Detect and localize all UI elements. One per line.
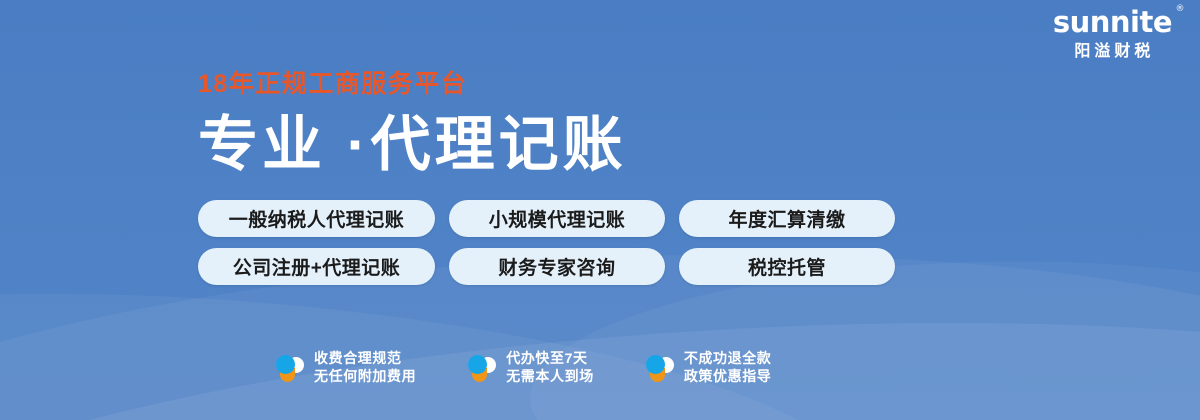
headline-block: 18年正规工商服务平台 专业 ·代理记账 <box>198 72 627 176</box>
brand-wordmark-text: sunnite <box>1053 5 1172 39</box>
brand-logo[interactable]: sunnite ® 阳溢财税 <box>1053 8 1172 60</box>
feature-line-2: 无任何附加费用 <box>314 368 416 386</box>
feature-text: 收费合理规范 无任何附加费用 <box>314 350 416 386</box>
circle-badge-blue-part <box>468 355 487 374</box>
service-pill-grid: 一般纳税人代理记账 小规模代理记账 年度汇算清缴 公司注册+代理记账 财务专家咨… <box>198 200 895 285</box>
headline-eyebrow: 18年正规工商服务平台 <box>198 72 627 97</box>
circle-badge-blue-part <box>646 355 665 374</box>
circle-badge-icon <box>646 353 674 383</box>
promo-banner: sunnite ® 阳溢财税 18年正规工商服务平台 专业 ·代理记账 一般纳税… <box>0 0 1200 420</box>
feature-text: 代办快至7天 无需本人到场 <box>506 350 594 386</box>
brand-name-cn: 阳溢财税 <box>1053 44 1172 60</box>
service-pill-company-registration-bookkeeping[interactable]: 公司注册+代理记账 <box>198 248 435 285</box>
feature-line-1: 不成功退全款 <box>684 350 772 368</box>
circle-badge-icon <box>276 353 304 383</box>
feature-item-speed: 代办快至7天 无需本人到场 <box>468 350 594 386</box>
service-pill-general-taxpayer-bookkeeping[interactable]: 一般纳税人代理记账 <box>198 200 435 237</box>
feature-item-pricing: 收费合理规范 无任何附加费用 <box>276 350 416 386</box>
service-pill-finance-expert-consulting[interactable]: 财务专家咨询 <box>449 248 665 285</box>
background-wave-2 <box>0 277 1200 420</box>
service-pill-small-scale-bookkeeping[interactable]: 小规模代理记账 <box>449 200 665 237</box>
circle-badge-blue-part <box>276 355 295 374</box>
feature-text: 不成功退全款 政策优惠指导 <box>684 350 772 386</box>
feature-line-1: 收费合理规范 <box>314 350 416 368</box>
feature-line-2: 政策优惠指导 <box>684 368 772 386</box>
feature-line-1: 代办快至7天 <box>506 350 594 368</box>
feature-list: 收费合理规范 无任何附加费用 代办快至7天 无需本人到场 不成功退全款 <box>276 350 771 386</box>
service-pill-annual-tax-settlement[interactable]: 年度汇算清缴 <box>679 200 895 237</box>
registered-trademark-icon: ® <box>1176 5 1185 14</box>
feature-line-2: 无需本人到场 <box>506 368 594 386</box>
service-pill-tax-control-hosting[interactable]: 税控托管 <box>679 248 895 285</box>
page-title: 专业 ·代理记账 <box>198 113 627 176</box>
circle-badge-icon <box>468 353 496 383</box>
brand-wordmark: sunnite ® <box>1053 8 1172 37</box>
feature-item-guarantee: 不成功退全款 政策优惠指导 <box>646 350 772 386</box>
